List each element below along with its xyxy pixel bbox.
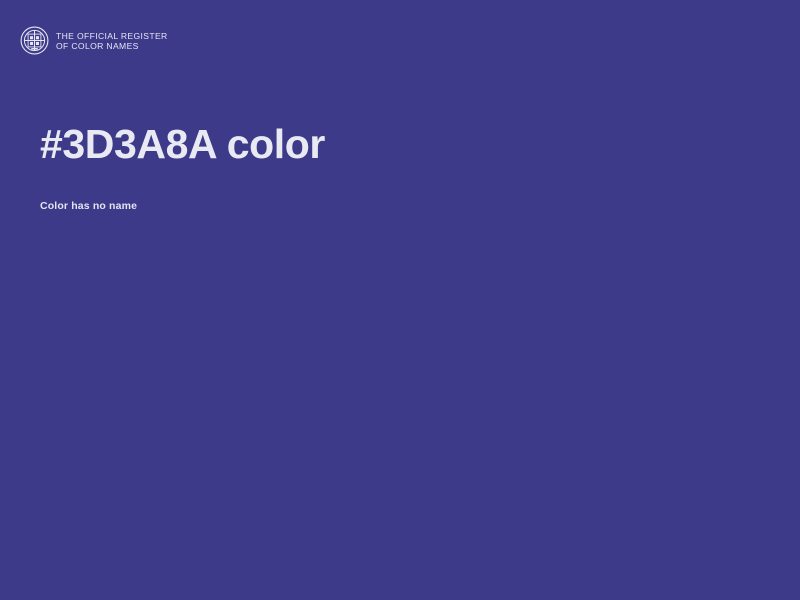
register-seal-icon (20, 26, 49, 55)
page-title: #3D3A8A color (40, 120, 740, 168)
brand-wordmark-line-1: THE OFFICIAL REGISTER (56, 31, 168, 41)
color-name-status: Color has no name (40, 168, 740, 213)
brand-wordmark-line-2: OF COLOR NAMES (56, 41, 168, 51)
brand-wordmark: THE OFFICIAL REGISTER OF COLOR NAMES (56, 30, 168, 52)
brand-header[interactable]: THE OFFICIAL REGISTER OF COLOR NAMES (20, 26, 168, 55)
color-swatch-page: THE OFFICIAL REGISTER OF COLOR NAMES #3D… (0, 0, 800, 600)
color-info-block: #3D3A8A color Color has no name (40, 120, 740, 213)
